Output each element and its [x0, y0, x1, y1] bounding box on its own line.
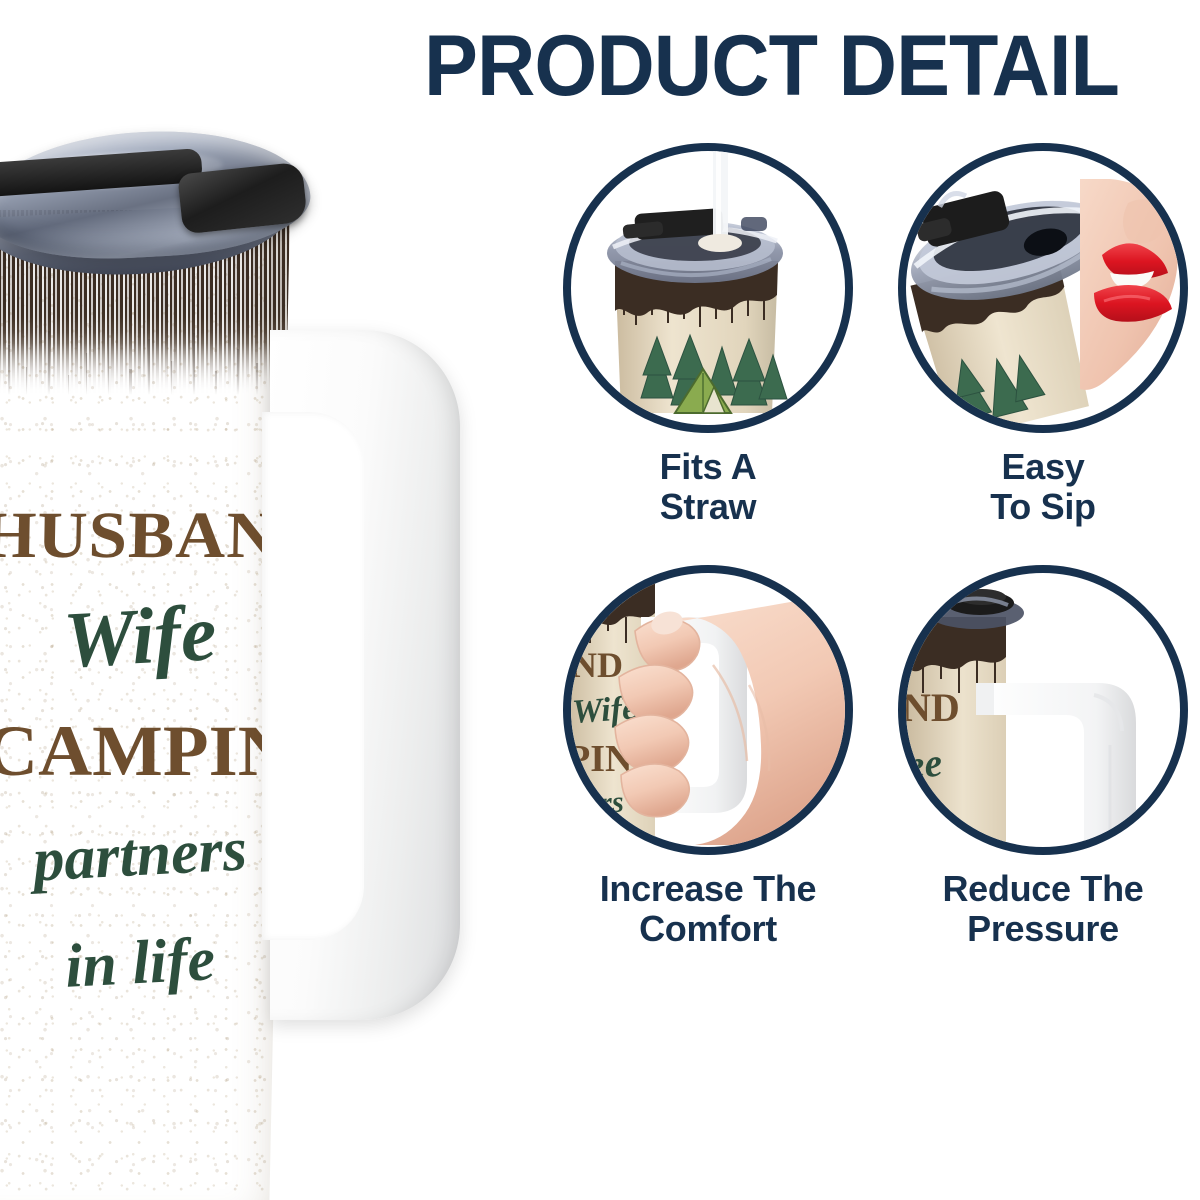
handle-opening	[262, 412, 364, 940]
handle-closeup-icon: ND ee	[898, 565, 1188, 855]
lips-sipping-icon	[898, 143, 1188, 433]
print-line-camping: CAMPING	[0, 710, 290, 793]
hand-gripping-handle-icon: ND Wife PING ners	[563, 565, 853, 855]
mini-print-ee: ee	[904, 739, 944, 787]
print-line-in-life: in life	[0, 920, 290, 1007]
print-line-husband: HUSBAND	[0, 498, 290, 574]
tumbler-body: HUSBAND Wife CAMPING partners in life	[0, 210, 290, 1200]
feature-label: Easy To Sip	[898, 447, 1188, 527]
feature-reduce-the-pressure[interactable]: ND ee Reduce The Pressure	[898, 565, 1188, 949]
print-line-wife: Wife	[0, 584, 290, 691]
feature-increase-the-comfort[interactable]: ND Wife PING ners Increase T	[563, 565, 853, 949]
feature-label-line2: Straw	[660, 486, 757, 527]
feature-label: Reduce The Pressure	[898, 869, 1188, 949]
feature-label-line2: Pressure	[967, 908, 1119, 949]
feature-circle: ND Wife PING ners	[563, 565, 853, 855]
feature-label-line1: Increase The	[600, 868, 817, 909]
feature-circle	[898, 143, 1188, 433]
feature-circle: ND ee	[898, 565, 1188, 855]
product-detail-page: PRODUCT DETAIL HUSBAND Wife	[0, 0, 1200, 1200]
mini-print-nd: ND	[571, 645, 623, 685]
feature-label: Fits A Straw	[563, 447, 853, 527]
feature-label-line1: Reduce The	[942, 868, 1143, 909]
tumbler-with-straw-icon	[563, 143, 853, 433]
feature-label-line1: Fits A	[660, 446, 757, 487]
print-line-partners: partners	[0, 812, 290, 899]
mini-print-ners: ners	[569, 785, 625, 822]
feature-fits-a-straw[interactable]: Fits A Straw	[563, 143, 853, 527]
feature-label: Increase The Comfort	[563, 869, 853, 949]
feature-easy-to-sip[interactable]: Easy To Sip	[898, 143, 1188, 527]
feature-label-line2: To Sip	[990, 486, 1096, 527]
feature-label-line2: Comfort	[639, 908, 777, 949]
hero-product-image: HUSBAND Wife CAMPING partners in life	[0, 60, 580, 1200]
mini-print-nd: ND	[902, 685, 960, 730]
feature-label-line1: Easy	[1002, 446, 1085, 487]
feature-circle	[563, 143, 853, 433]
